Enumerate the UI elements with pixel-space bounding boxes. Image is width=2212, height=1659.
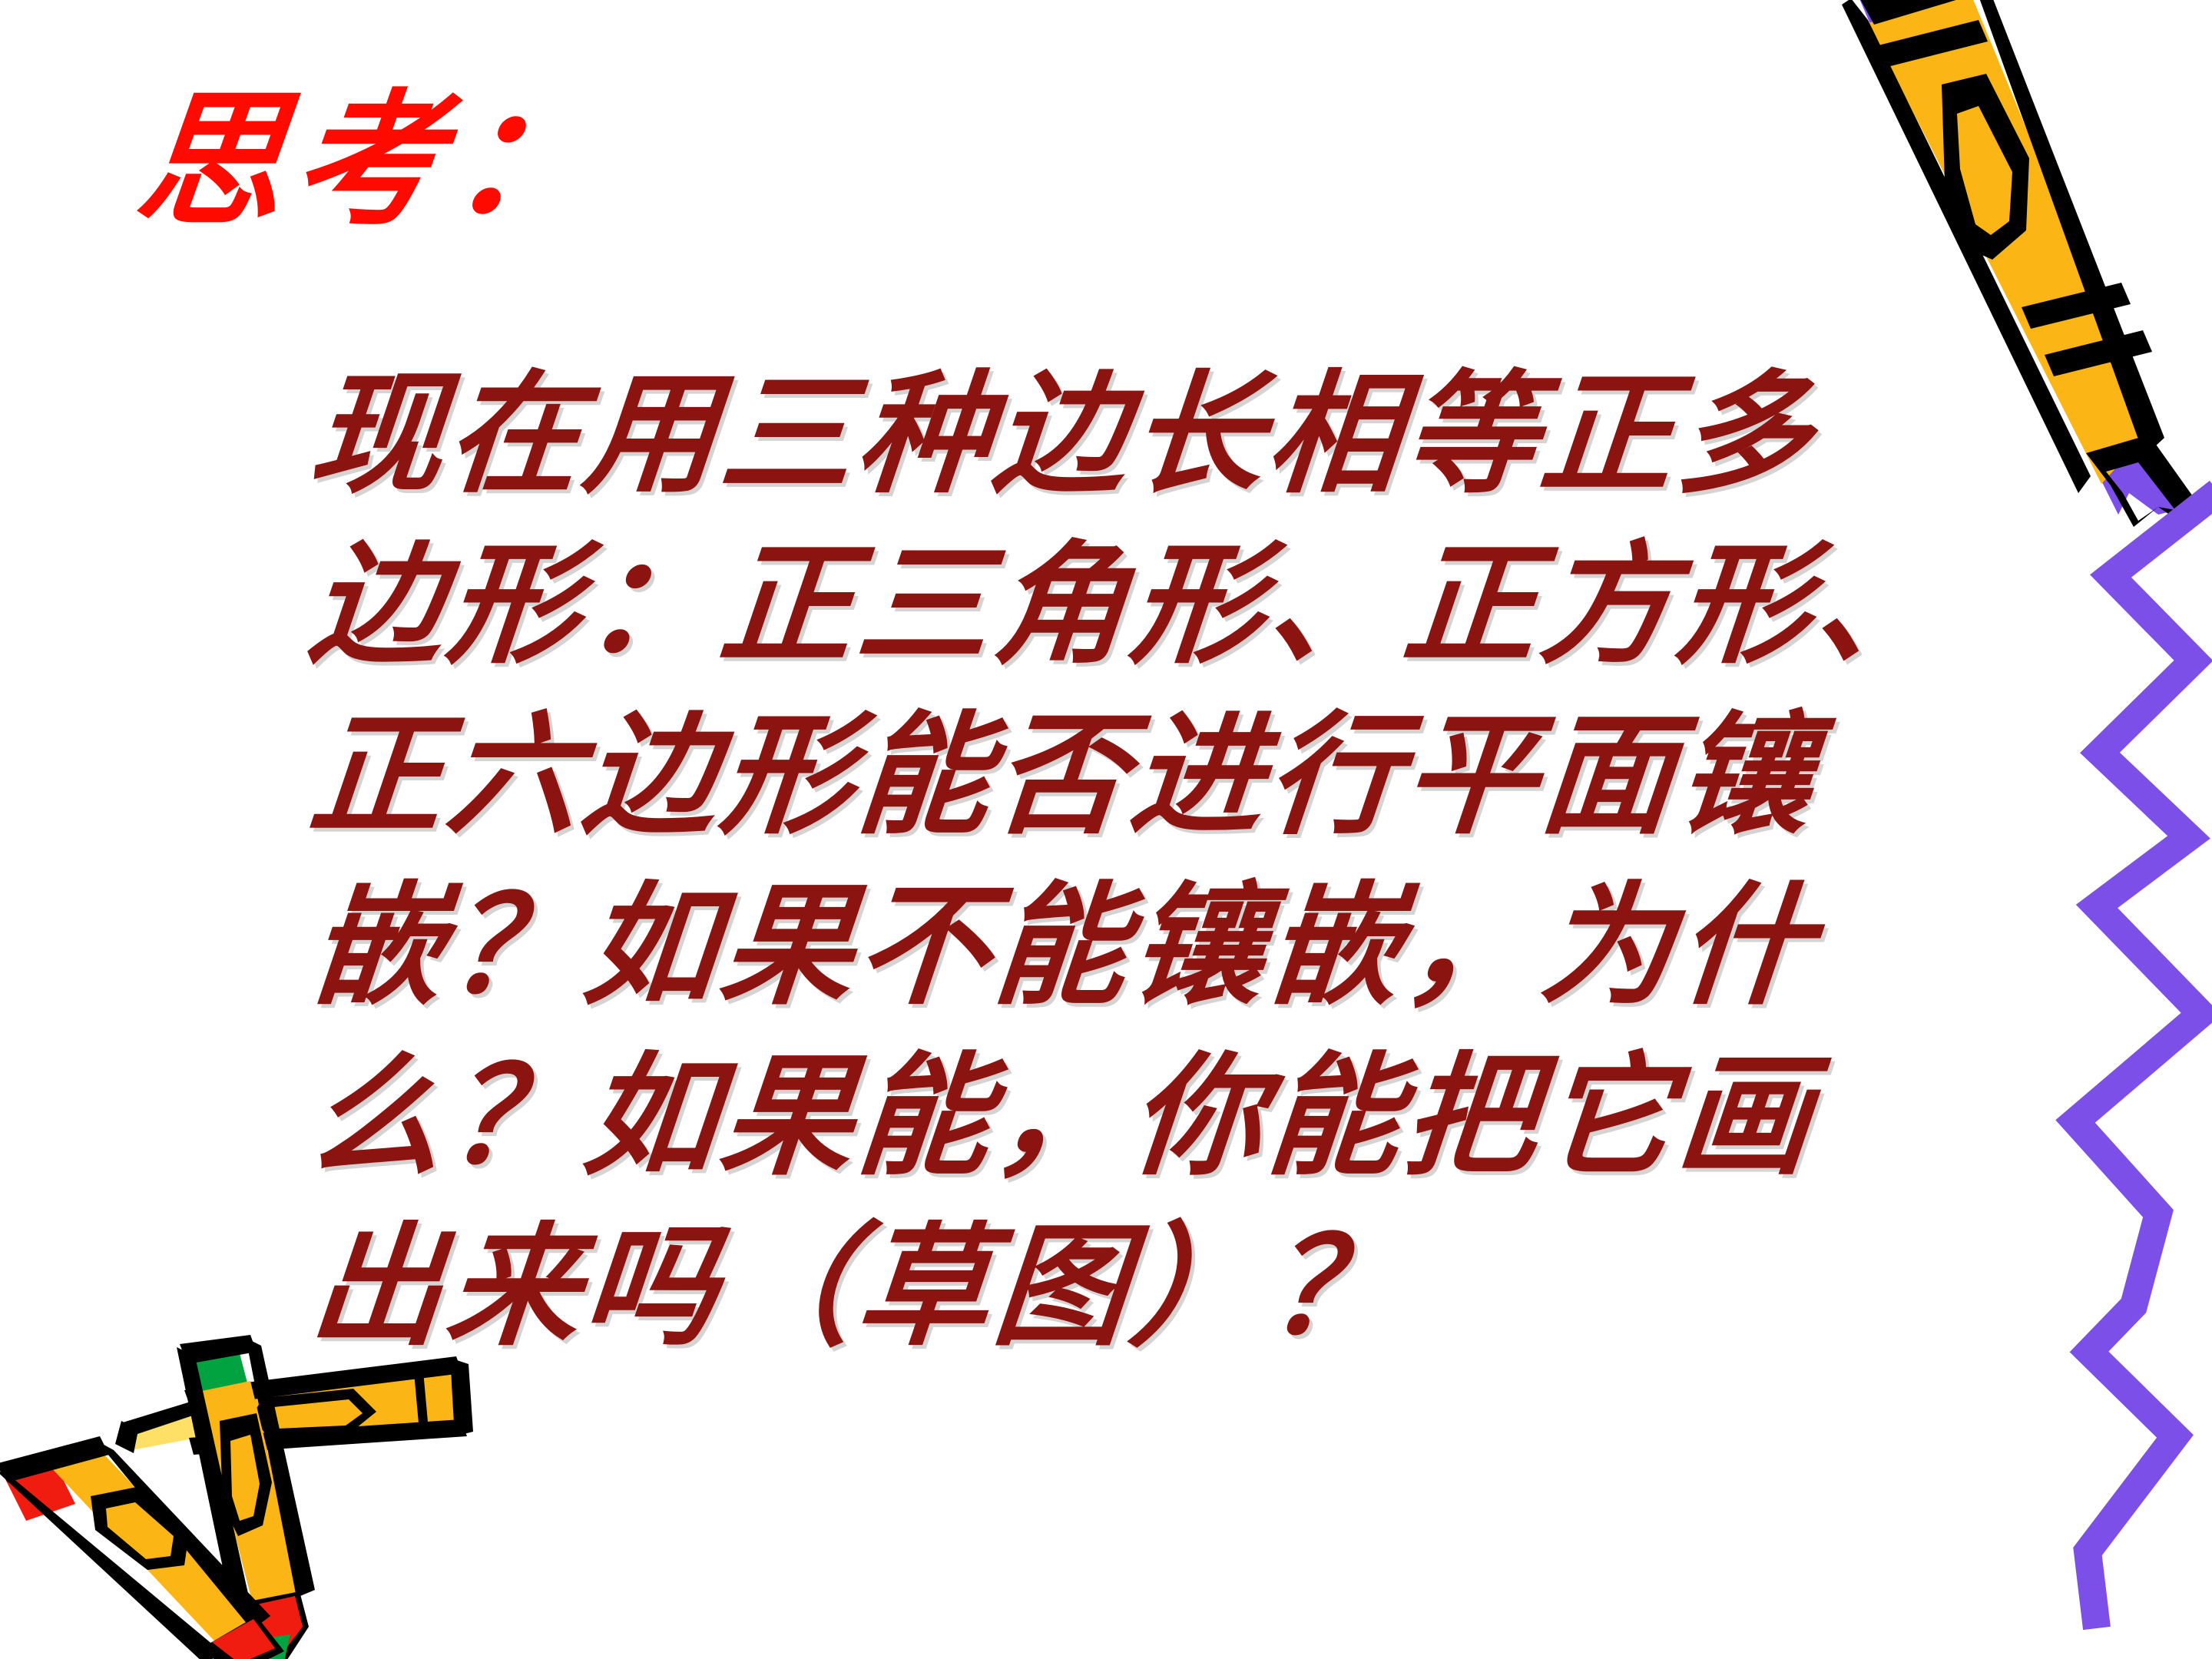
body-line-1: 现在用三种边长相等正多 xyxy=(303,349,1931,520)
body-line-6: 出来吗（草图）？ xyxy=(303,1202,1931,1373)
body-line-3: 正六边形能否进行平面镶 xyxy=(303,690,1931,861)
body-line-2: 边形：正三角形、正方形、 xyxy=(303,520,1931,690)
body-line-5: 么？如果能，你能把它画 xyxy=(303,1031,1931,1202)
slide-body-text: 现在用三种边长相等正多 边形：正三角形、正方形、 正六边形能否进行平面镶 嵌？如… xyxy=(311,349,1924,1373)
slide-title: 思考： xyxy=(131,84,617,238)
presentation-slide: 思考： 现在用三种边长相等正多 边形：正三角形、正方形、 正六边形能否进行平面镶… xyxy=(0,0,2212,1659)
purple-zigzag-icon xyxy=(2043,476,2212,1651)
body-line-4: 嵌？如果不能镶嵌，为什 xyxy=(303,861,1931,1031)
